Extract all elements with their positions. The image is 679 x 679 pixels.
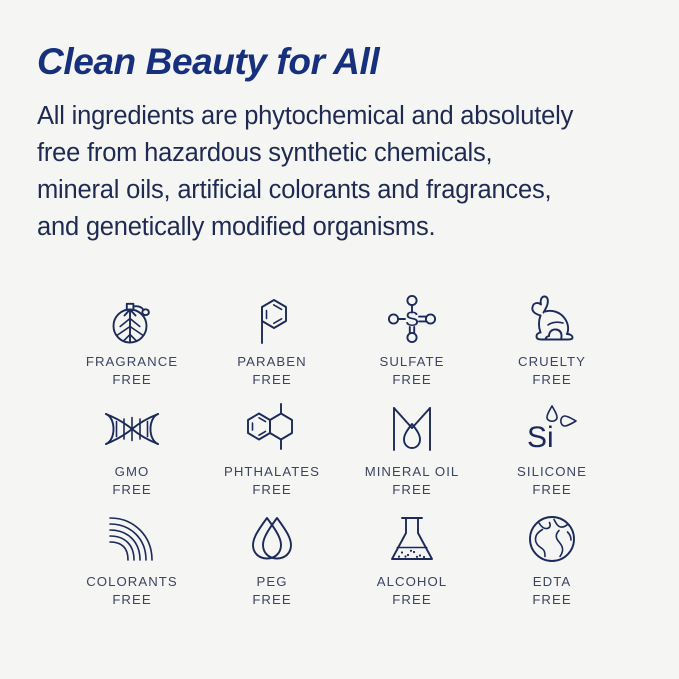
badge-label-line2: FREE: [518, 371, 586, 389]
badge-label-line1: PHTHALATES: [224, 464, 320, 479]
header: Clean Beauty for All All ingredients are…: [0, 0, 679, 246]
badge-label: PHTHALATES FREE: [224, 463, 320, 499]
badge-label: CRUELTY FREE: [518, 353, 586, 389]
badge-label-line1: CRUELTY: [518, 354, 586, 369]
badge-label-line2: FREE: [252, 591, 291, 609]
intro-line-2: free from hazardous synthetic chemicals,: [37, 135, 645, 172]
intro-line-4: and genetically modified organisms.: [37, 209, 645, 246]
badge-silicone-free: Si SILICONE FREE: [482, 398, 622, 508]
globe-earth-icon: [521, 508, 583, 570]
badge-label: SILICONE FREE: [517, 463, 587, 499]
badge-label-line1: GMO: [115, 464, 150, 479]
badge-label: FRAGRANCE FREE: [86, 353, 178, 389]
badge-label-line2: FREE: [377, 591, 447, 609]
erlenmeyer-flask-icon: [381, 508, 443, 570]
rabbit-icon: [521, 288, 583, 350]
badge-label-line1: MINERAL OIL: [365, 464, 460, 479]
badge-label: EDTA FREE: [532, 573, 571, 609]
perfume-bottle-icon: [101, 288, 163, 350]
badge-label-line1: SULFATE: [380, 354, 445, 369]
badge-label-line1: FRAGRANCE: [86, 354, 178, 369]
badge-alcohol-free: ALCOHOL FREE: [342, 508, 482, 618]
dna-helix-icon: [101, 398, 163, 460]
badge-paraben-free: PARABEN FREE: [202, 288, 342, 398]
badge-label-line2: FREE: [86, 591, 178, 609]
intro-line-1: All ingredients are phytochemical and ab…: [37, 98, 645, 135]
badge-phthalates-free: PHTHALATES FREE: [202, 398, 342, 508]
free-from-badge-grid: FRAGRANCE FREE PARABEN FREE: [62, 288, 622, 618]
badge-sulfate-free: S SULFATE FREE: [342, 288, 482, 398]
badge-label: PEG FREE: [252, 573, 291, 609]
sulfate-molecule-icon: S: [381, 288, 443, 350]
badge-mineral-oil-free: MINERAL OIL FREE: [342, 398, 482, 508]
rainbow-arcs-icon: [101, 508, 163, 570]
badge-label-line2: FREE: [224, 481, 320, 499]
badge-label-line2: FREE: [532, 591, 571, 609]
badge-label-line1: ALCOHOL: [377, 574, 447, 589]
badge-label-line2: FREE: [517, 481, 587, 499]
badge-label-line1: SILICONE: [517, 464, 587, 479]
benzene-ring-p-icon: [241, 288, 303, 350]
badge-label-line1: COLORANTS: [86, 574, 178, 589]
intro-line-3: mineral oils, artificial colorants and f…: [37, 172, 645, 209]
badge-label: ALCOHOL FREE: [377, 573, 447, 609]
badge-label-line2: FREE: [86, 371, 178, 389]
badge-label-line1: PEG: [257, 574, 288, 589]
badge-label: PARABEN FREE: [237, 353, 306, 389]
oil-droplet-m-icon: [381, 398, 443, 460]
badge-label: SULFATE FREE: [380, 353, 445, 389]
badge-label-line2: FREE: [365, 481, 460, 499]
svg-text:Si: Si: [527, 421, 554, 454]
intro-paragraph: All ingredients are phytochemical and ab…: [37, 98, 645, 246]
badge-label-line2: FREE: [237, 371, 306, 389]
badge-label: GMO FREE: [112, 463, 151, 499]
badge-label-line2: FREE: [380, 371, 445, 389]
badge-cruelty-free: CRUELTY FREE: [482, 288, 622, 398]
double-droplet-icon: [241, 508, 303, 570]
badge-peg-free: PEG FREE: [202, 508, 342, 618]
clean-beauty-panel: Clean Beauty for All All ingredients are…: [0, 0, 679, 679]
badge-label-line1: EDTA: [533, 574, 571, 589]
page-title: Clean Beauty for All: [37, 40, 645, 84]
badge-label-line2: FREE: [112, 481, 151, 499]
badge-edta-free: EDTA FREE: [482, 508, 622, 618]
badge-gmo-free: GMO FREE: [62, 398, 202, 508]
naphthalene-ring-icon: [241, 398, 303, 460]
badge-colorants-free: COLORANTS FREE: [62, 508, 202, 618]
badge-label: COLORANTS FREE: [86, 573, 178, 609]
badge-label-line1: PARABEN: [237, 354, 306, 369]
badge-fragrance-free: FRAGRANCE FREE: [62, 288, 202, 398]
badge-label: MINERAL OIL FREE: [365, 463, 460, 499]
silicone-si-icon: Si: [521, 398, 583, 460]
